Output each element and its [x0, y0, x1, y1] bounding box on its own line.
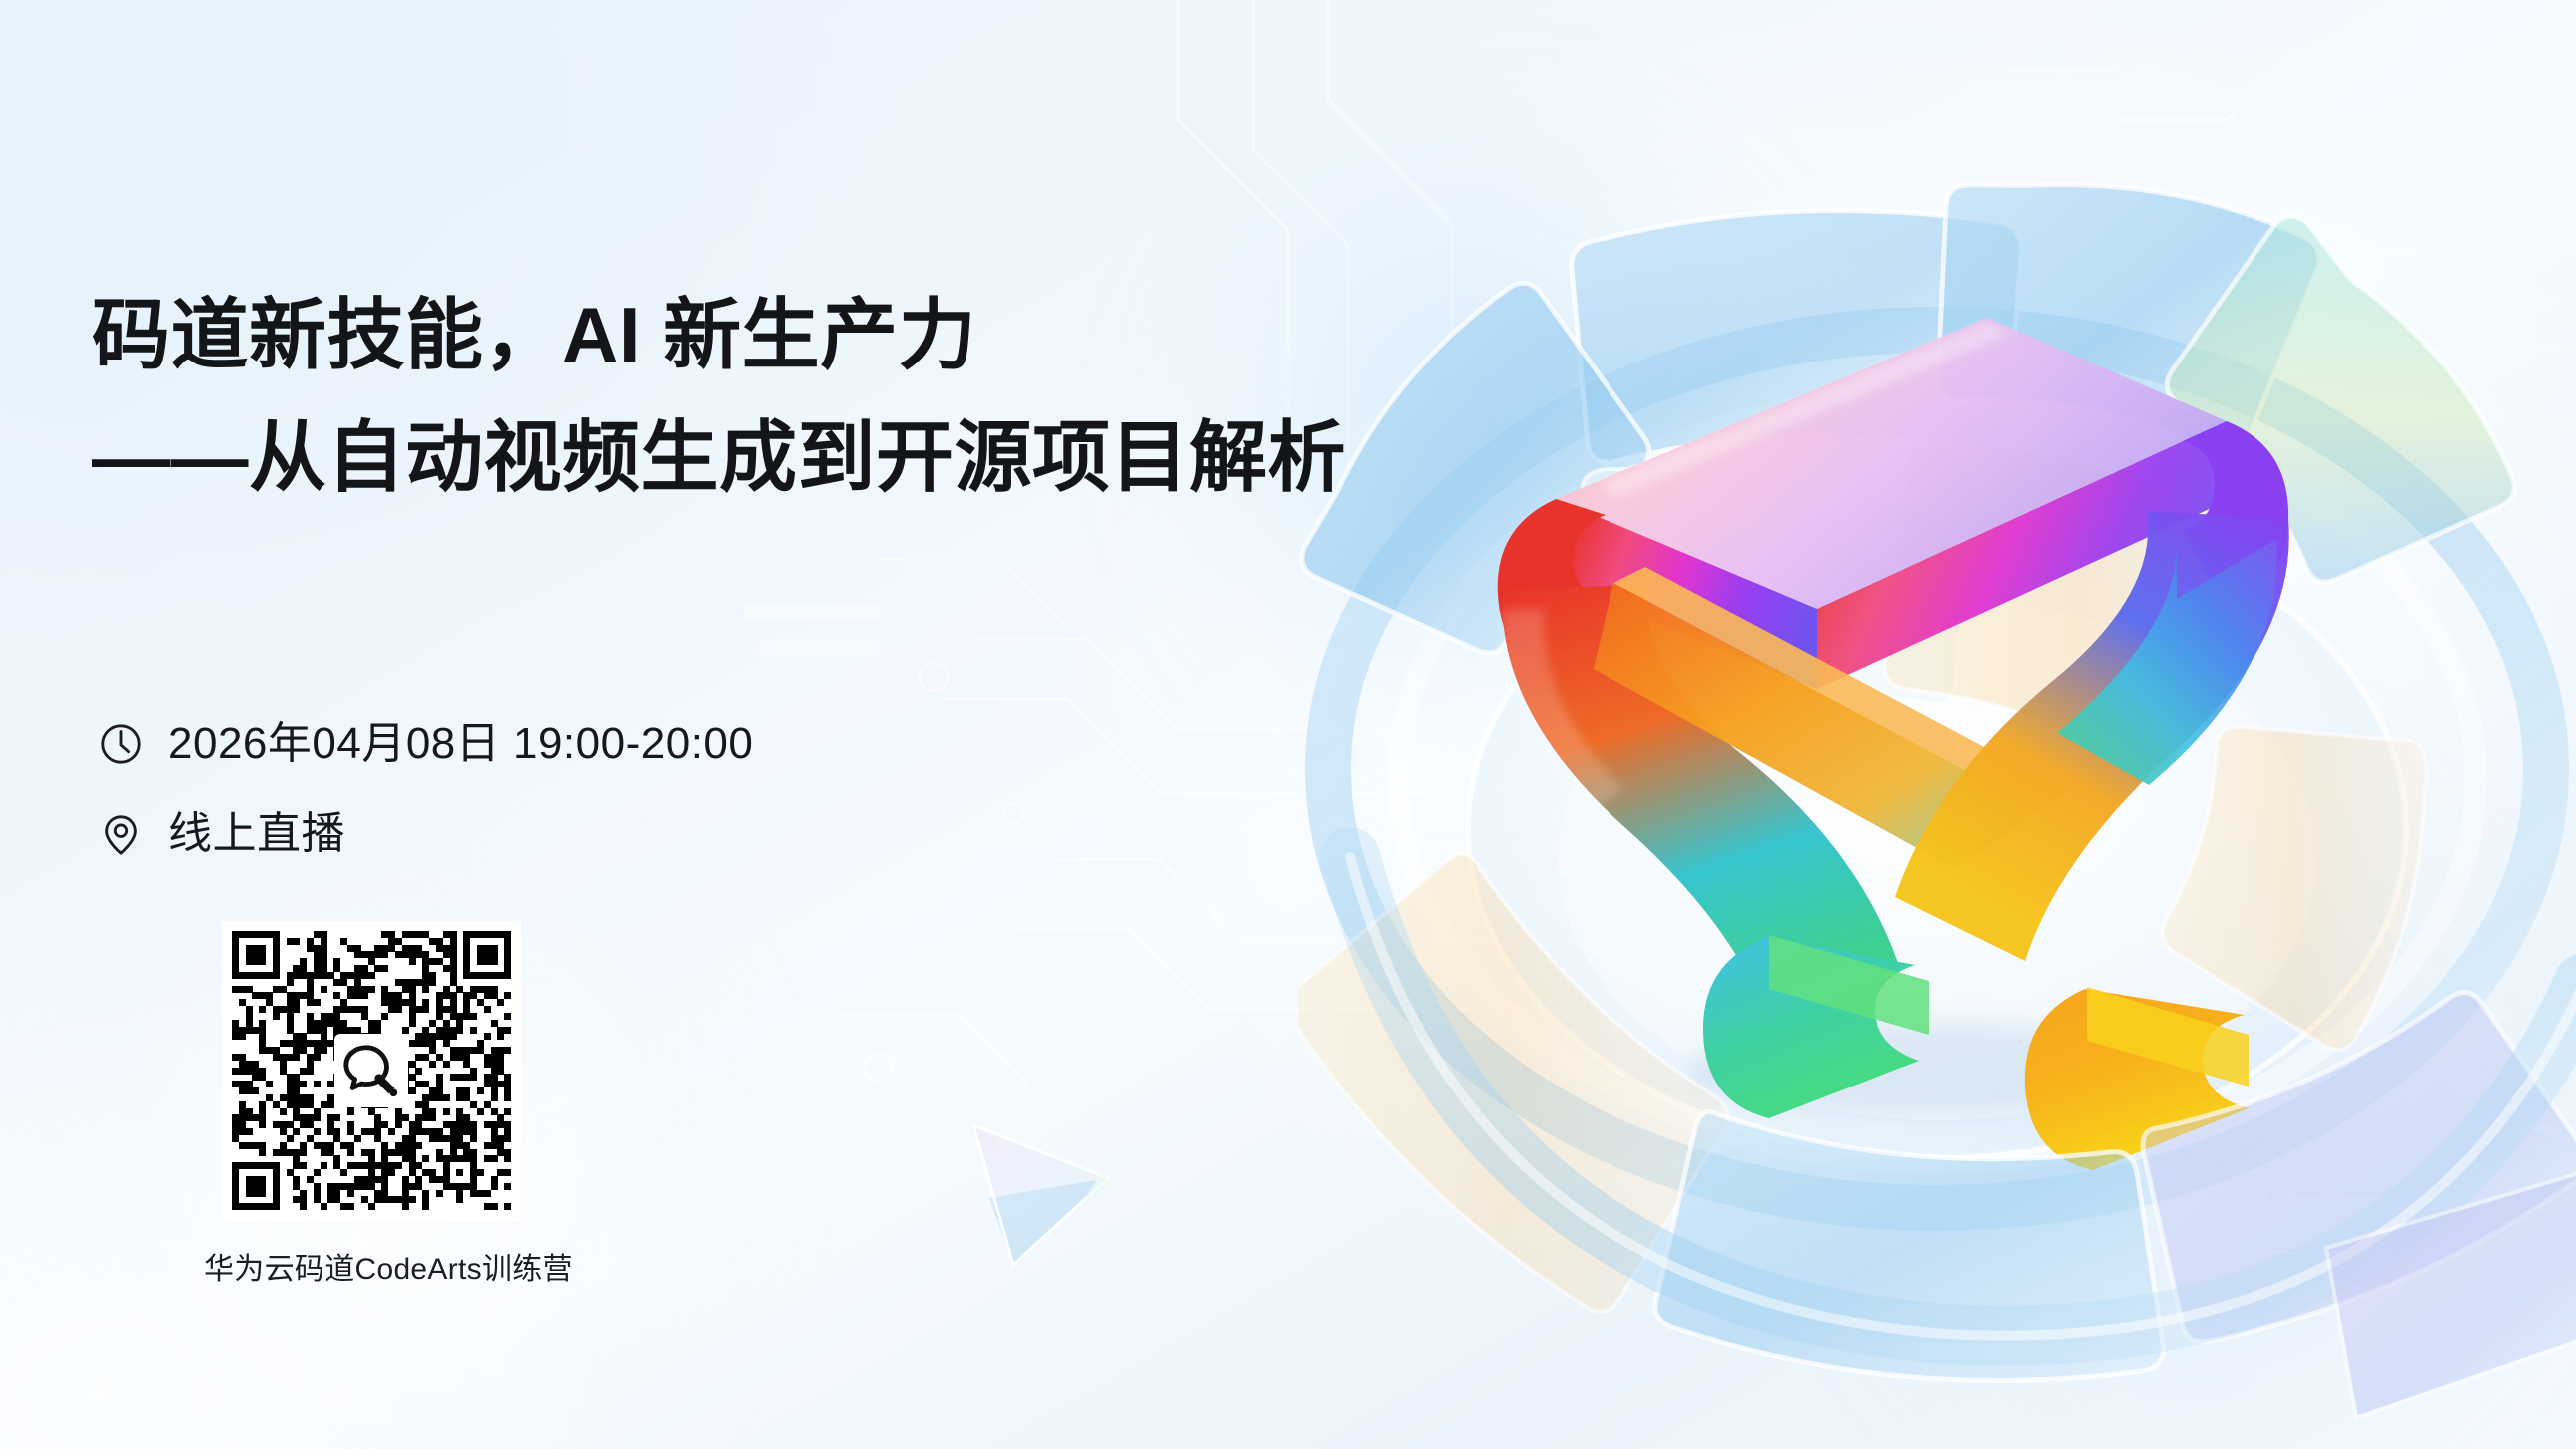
qr-block: 华为云码道CodeArts训练营 [222, 921, 521, 1288]
event-datetime-row: 2026年04月08日 19:00-20:00 [98, 712, 753, 776]
title-line-1: 码道新技能，AI 新生产力 [92, 296, 1270, 373]
map-pin-icon [98, 811, 144, 857]
qr-code[interactable] [222, 921, 521, 1220]
page-title: 码道新技能，AI 新生产力 ——从自动视频生成到开源项目解析 [92, 296, 1270, 496]
title-line-2: ——从自动视频生成到开源项目解析 [92, 418, 1270, 496]
huawei-cloud-codearts-3d-ribbon [1298, 170, 2576, 1449]
event-meta: 2026年04月08日 19:00-20:00 线上直播 [98, 712, 753, 892]
qr-caption: 华为云码道CodeArts训练营 [204, 1244, 503, 1288]
event-location-text: 线上直播 [168, 812, 345, 856]
content-column: 码道新技能，AI 新生产力 ——从自动视频生成到开源项目解析 2026年04月0… [0, 0, 1298, 1449]
event-location-row: 线上直播 [98, 802, 753, 866]
light-bloom [1817, 759, 2576, 1449]
poster-canvas: 码道新技能，AI 新生产力 ——从自动视频生成到开源项目解析 2026年04月0… [0, 0, 2576, 1449]
event-datetime-text: 2026年04月08日 19:00-20:00 [168, 722, 753, 766]
wechat-bubble-icon [334, 1034, 408, 1107]
clock-icon [98, 721, 144, 767]
